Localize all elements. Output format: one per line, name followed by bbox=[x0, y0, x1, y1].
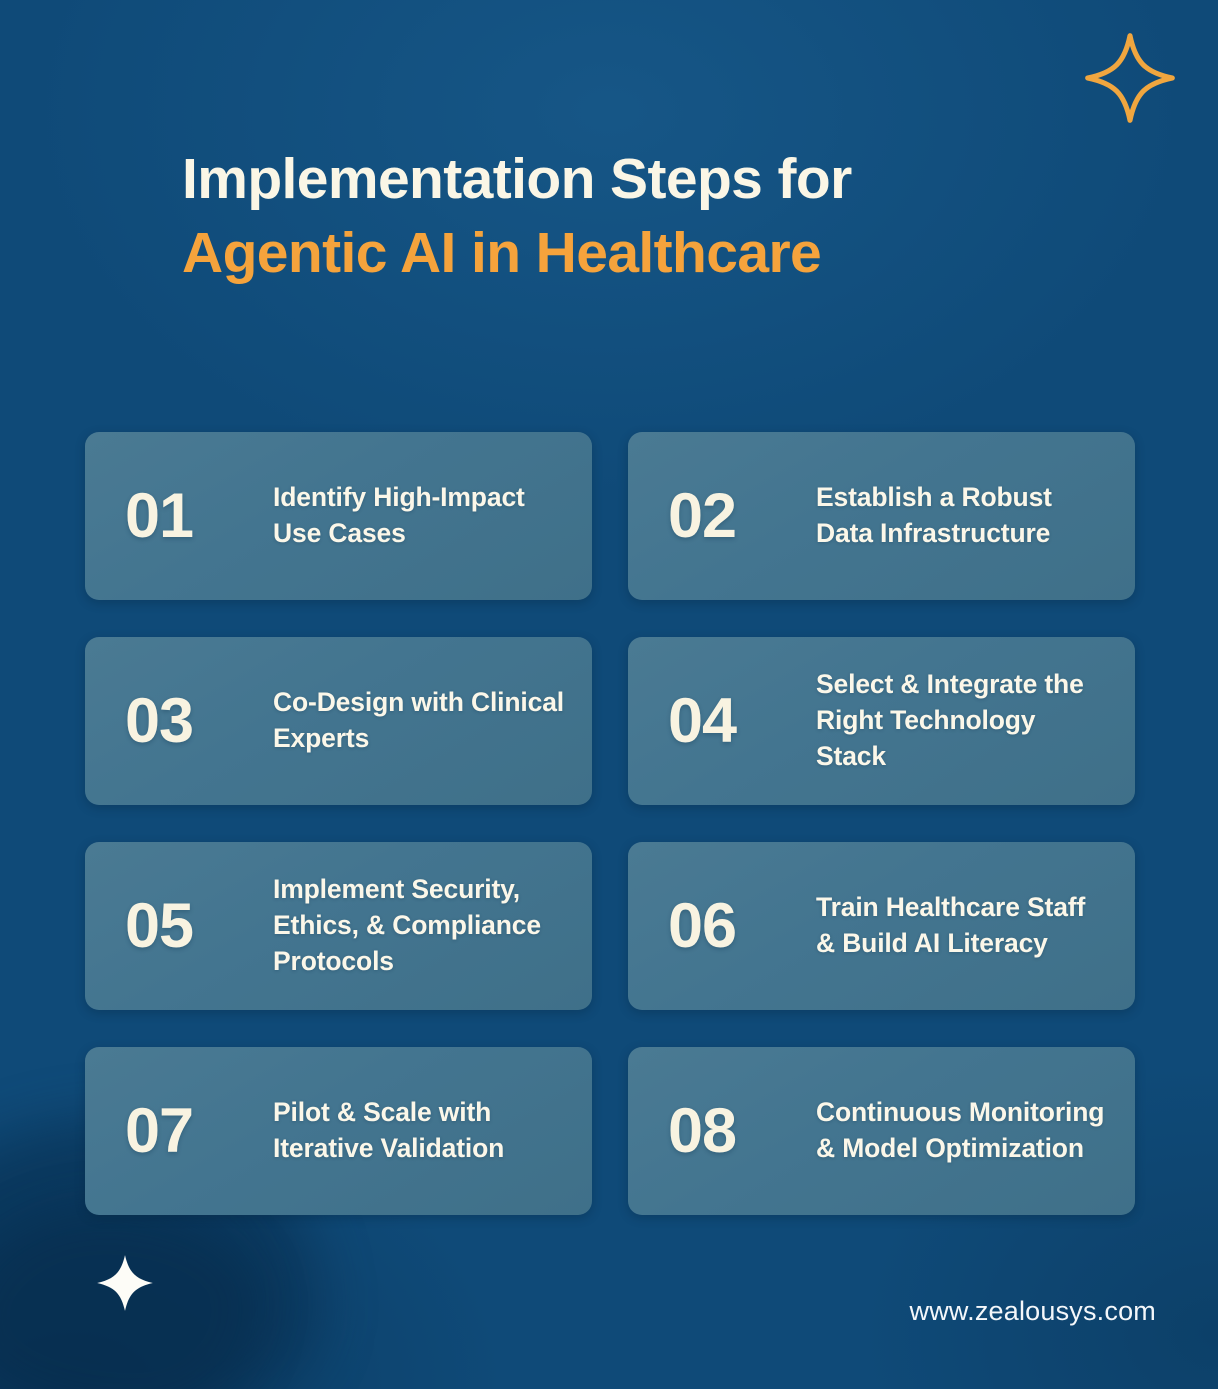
step-card-08[interactable]: 08 Continuous Monitoring & Model Optimiz… bbox=[628, 1047, 1135, 1215]
title-line-primary: Implementation Steps for bbox=[182, 142, 1082, 216]
step-number: 07 bbox=[125, 1100, 273, 1163]
step-number: 05 bbox=[125, 895, 273, 958]
step-label: Select & Integrate the Right Technology … bbox=[816, 667, 1109, 774]
step-card-03[interactable]: 03 Co-Design with Clinical Experts bbox=[85, 637, 592, 805]
step-label: Co-Design with Clinical Experts bbox=[273, 685, 566, 757]
steps-grid: 01 Identify High-Impact Use Cases 02 Est… bbox=[85, 432, 1135, 1215]
step-label: Implement Security, Ethics, & Compliance… bbox=[273, 872, 566, 979]
step-card-06[interactable]: 06 Train Healthcare Staff & Build AI Lit… bbox=[628, 842, 1135, 1010]
step-label: Continuous Monitoring & Model Optimizati… bbox=[816, 1095, 1109, 1167]
four-point-star-outline-icon bbox=[1084, 32, 1176, 124]
step-label: Establish a Robust Data Infrastructure bbox=[816, 480, 1109, 552]
step-card-01[interactable]: 01 Identify High-Impact Use Cases bbox=[85, 432, 592, 600]
title-line-accent: Agentic AI in Healthcare bbox=[182, 216, 1082, 290]
four-point-star-solid-icon bbox=[96, 1252, 154, 1314]
step-number: 02 bbox=[668, 485, 816, 548]
step-card-05[interactable]: 05 Implement Security, Ethics, & Complia… bbox=[85, 842, 592, 1010]
step-label: Identify High-Impact Use Cases bbox=[273, 480, 566, 552]
step-label: Train Healthcare Staff & Build AI Litera… bbox=[816, 890, 1109, 962]
step-card-04[interactable]: 04 Select & Integrate the Right Technolo… bbox=[628, 637, 1135, 805]
step-card-02[interactable]: 02 Establish a Robust Data Infrastructur… bbox=[628, 432, 1135, 600]
page-title: Implementation Steps for Agentic AI in H… bbox=[182, 142, 1082, 290]
step-label: Pilot & Scale with Iterative Validation bbox=[273, 1095, 566, 1167]
step-number: 03 bbox=[125, 690, 273, 753]
step-number: 01 bbox=[125, 485, 273, 548]
website-url[interactable]: www.zealousys.com bbox=[910, 1296, 1156, 1327]
step-number: 06 bbox=[668, 895, 816, 958]
step-number: 08 bbox=[668, 1100, 816, 1163]
step-number: 04 bbox=[668, 690, 816, 753]
step-card-07[interactable]: 07 Pilot & Scale with Iterative Validati… bbox=[85, 1047, 592, 1215]
